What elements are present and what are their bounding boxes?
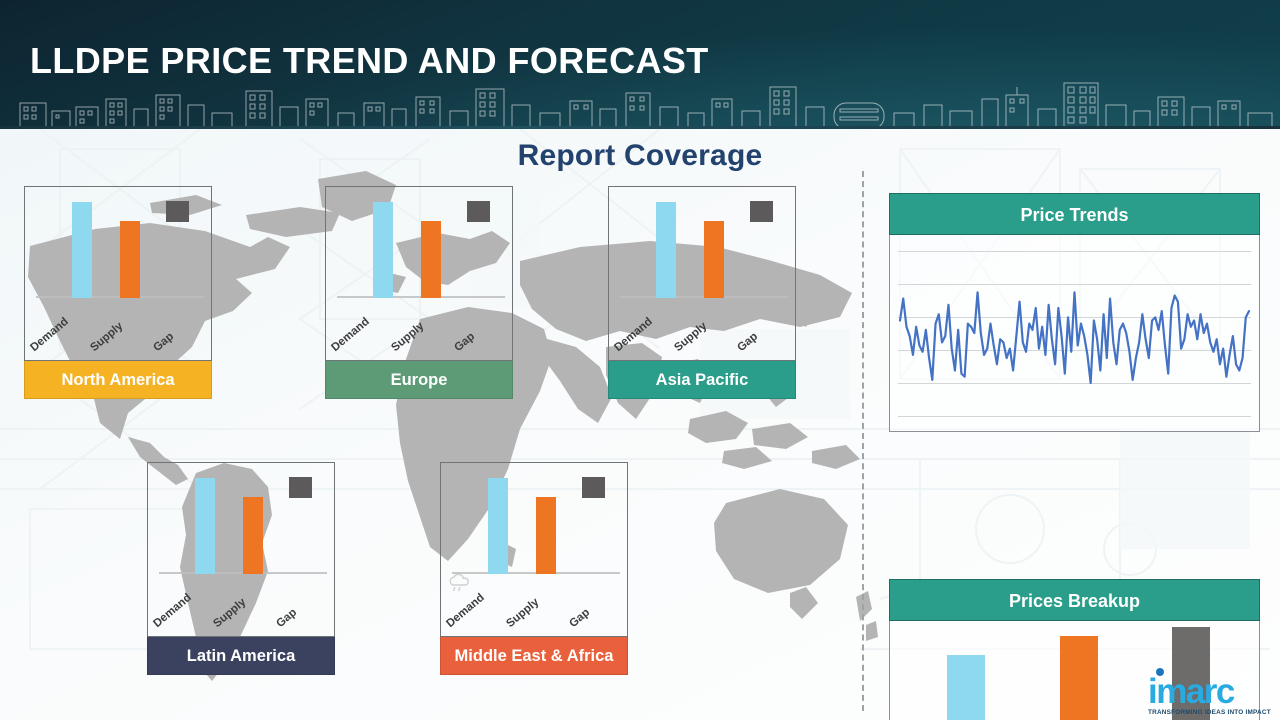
axis-label-gap: Gap bbox=[151, 330, 176, 354]
axis-label-supply: Supply bbox=[504, 596, 541, 630]
region-chart-europe: Demand Supply Gap bbox=[325, 186, 513, 361]
axis-label-supply: Supply bbox=[672, 320, 709, 354]
axis-label-supply: Supply bbox=[389, 320, 426, 354]
region-chart-latin-america: Demand Supply Gap bbox=[147, 462, 335, 637]
region-chart-middle-east-africa: Demand Supply Gap bbox=[440, 462, 628, 637]
region-card-latin-america[interactable]: Demand Supply Gap Latin America bbox=[147, 462, 335, 675]
panel-body-price-trends bbox=[889, 235, 1260, 432]
axis-label-supply: Supply bbox=[211, 596, 248, 630]
axis-label-gap: Gap bbox=[735, 330, 760, 354]
rain-cloud-icon bbox=[447, 573, 471, 593]
price-trend-line-chart bbox=[890, 235, 1259, 431]
bar-gap bbox=[750, 201, 772, 222]
axis-label-demand: Demand bbox=[151, 592, 193, 630]
bar-gap bbox=[166, 201, 188, 222]
bar-demand bbox=[656, 202, 676, 298]
vertical-divider bbox=[862, 171, 864, 711]
axis-label-demand: Demand bbox=[444, 592, 486, 630]
region-label-europe: Europe bbox=[325, 361, 513, 399]
region-card-europe[interactable]: Demand Supply Gap Europe bbox=[325, 186, 513, 399]
region-chart-asia-pacific: Demand Supply Gap bbox=[608, 186, 796, 361]
axis-label-gap: Gap bbox=[567, 606, 592, 630]
axis-label-demand: Demand bbox=[612, 316, 654, 354]
region-card-north-america[interactable]: Demand Supply Gap North America bbox=[24, 186, 212, 399]
panel-price-trends[interactable]: Price Trends bbox=[889, 193, 1260, 432]
region-card-asia-pacific[interactable]: Demand Supply Gap Asia Pacific bbox=[608, 186, 796, 399]
bar-gap bbox=[289, 477, 311, 498]
axis-label-demand: Demand bbox=[28, 316, 70, 354]
axis-label-gap: Gap bbox=[452, 330, 477, 354]
bar-demand bbox=[195, 478, 215, 574]
bar-gap bbox=[582, 477, 604, 498]
bar-supply bbox=[536, 497, 556, 574]
region-label-asia-pacific: Asia Pacific bbox=[608, 361, 796, 399]
region-label-middle-east-africa: Middle East & Africa bbox=[440, 637, 628, 675]
bar-demand bbox=[373, 202, 393, 298]
region-chart-north-america: Demand Supply Gap bbox=[24, 186, 212, 361]
bar-demand bbox=[72, 202, 92, 298]
axis-label-demand: Demand bbox=[329, 316, 371, 354]
region-label-north-america: North America bbox=[24, 361, 212, 399]
page-title: LLDPE PRICE TREND AND FORECAST bbox=[30, 40, 709, 82]
axis-label-supply: Supply bbox=[88, 320, 125, 354]
section-title: Report Coverage bbox=[0, 139, 1280, 173]
bar-gap bbox=[467, 201, 489, 222]
bar-fob-price bbox=[1060, 636, 1098, 720]
slide-body: Report Coverage Demand Supply Gap North … bbox=[0, 129, 1280, 720]
panel-title-price-trends: Price Trends bbox=[889, 193, 1260, 235]
bar-supply bbox=[421, 221, 441, 298]
logo-dot-icon bbox=[1156, 668, 1164, 676]
page-header: LLDPE PRICE TREND AND FORECAST bbox=[0, 0, 1280, 129]
imarc-logo[interactable]: imarc TRANSFORMING IDEAS INTO IMPACT bbox=[1148, 675, 1270, 716]
region-label-latin-america: Latin America bbox=[147, 637, 335, 675]
axis-label-gap: Gap bbox=[274, 606, 299, 630]
bar-supply bbox=[704, 221, 724, 298]
bar-supply bbox=[120, 221, 140, 298]
bar-demand bbox=[488, 478, 508, 574]
region-card-middle-east-africa[interactable]: Demand Supply Gap Middle East & Africa bbox=[440, 462, 628, 675]
bar-ex-works bbox=[947, 655, 985, 720]
bar-supply bbox=[243, 497, 263, 574]
panel-title-prices-breakup: Prices Breakup bbox=[889, 579, 1260, 621]
logo-wordmark: imarc bbox=[1148, 675, 1270, 708]
